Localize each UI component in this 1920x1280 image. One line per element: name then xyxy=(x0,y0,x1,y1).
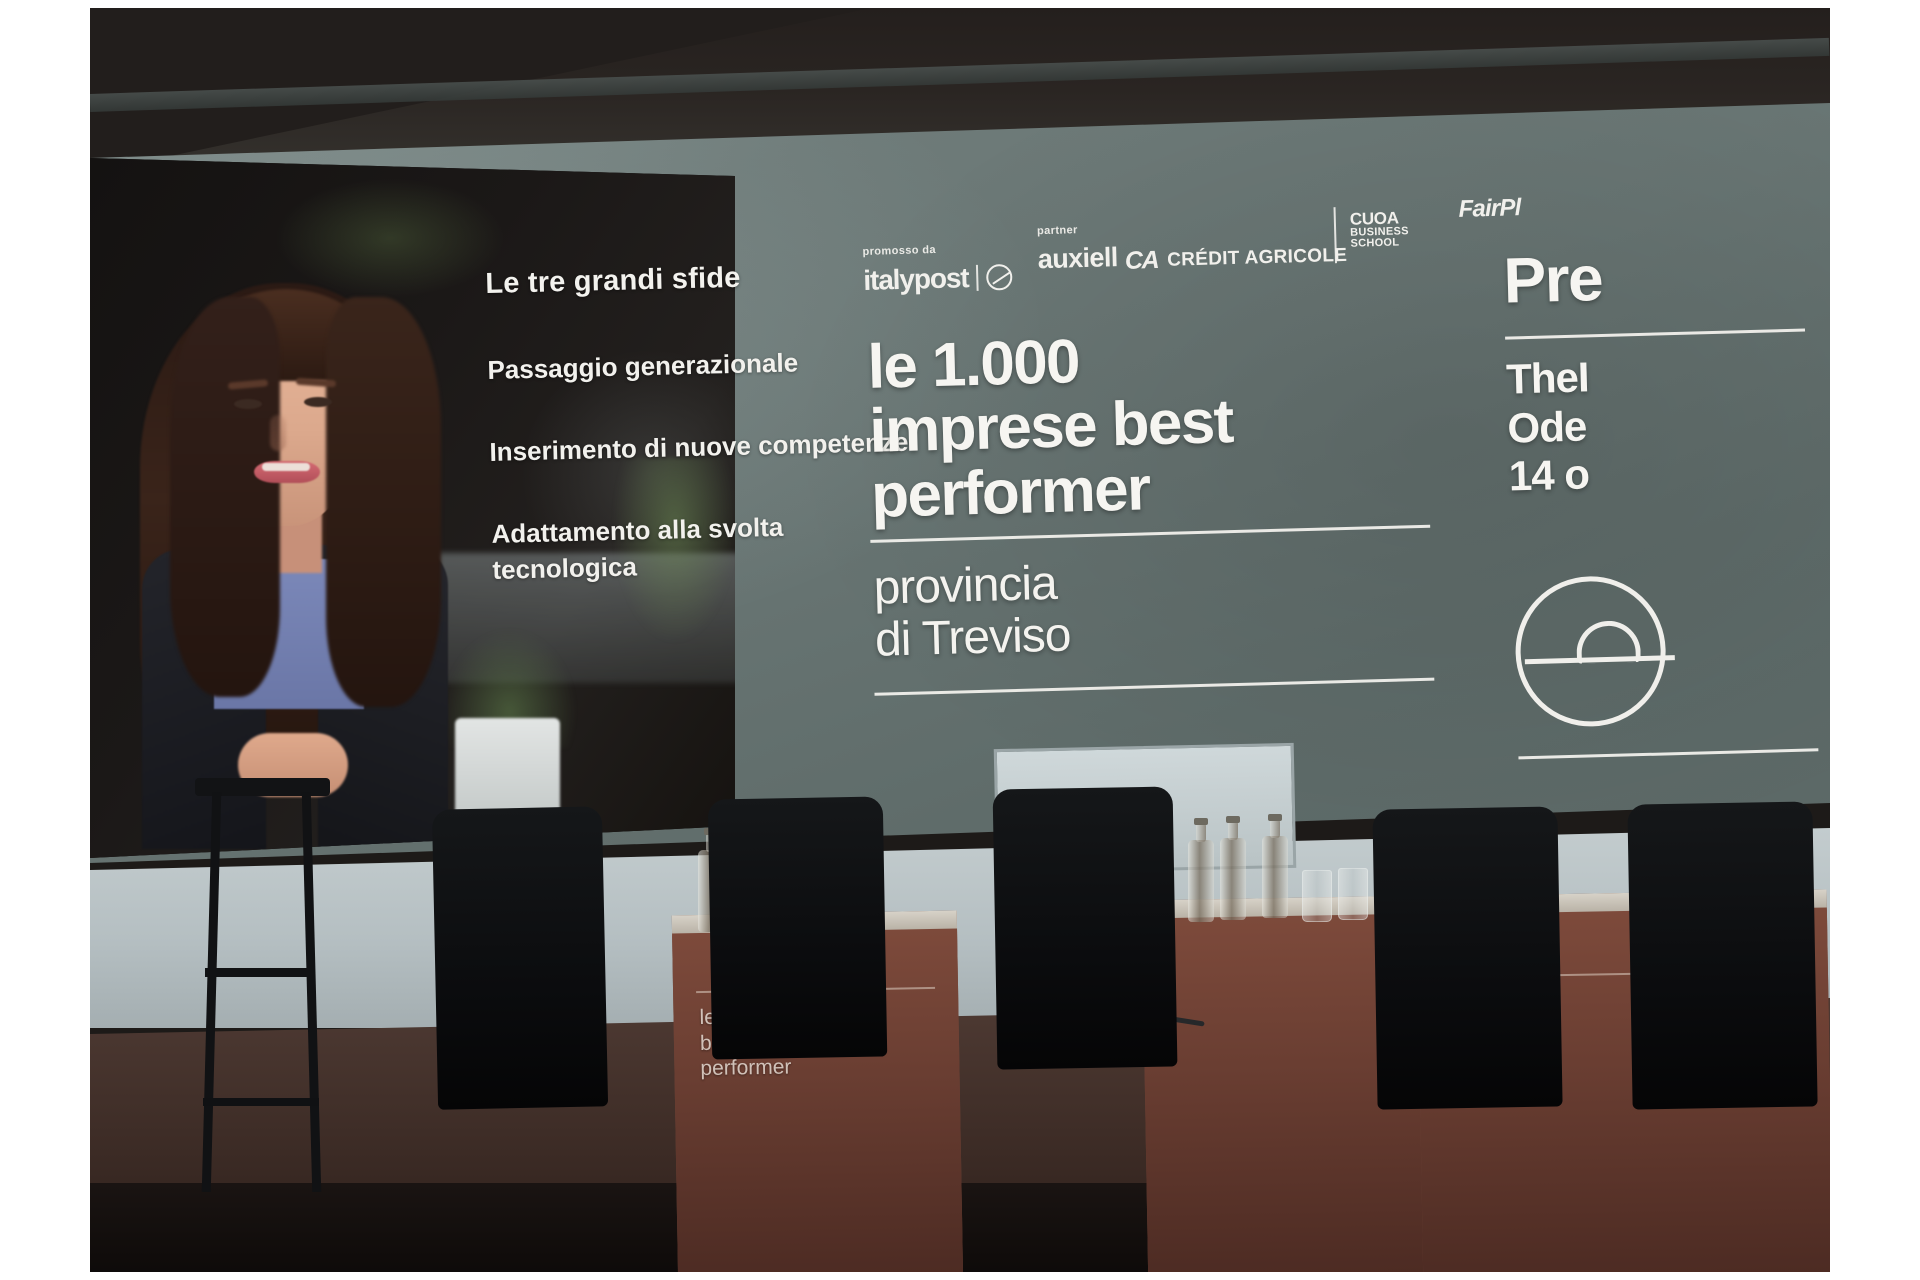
cut-line-1: TheI xyxy=(1506,347,1830,405)
stool-rail xyxy=(205,968,315,977)
italypost-wordmark: italypost xyxy=(863,262,969,297)
stool-leg xyxy=(202,792,221,1192)
credit-agricole-wordmark: CRÉDIT AGRICOLE xyxy=(1167,244,1348,271)
slide-bullet-2: Inserimento di nuove competenze xyxy=(489,425,910,471)
presenter-nose xyxy=(270,415,286,451)
screenshot-root: Le tre grandi sfide Passaggio generazion… xyxy=(0,0,1920,1280)
stage-chair xyxy=(708,796,888,1059)
promosso-da-kicker: promosso da xyxy=(862,242,1012,258)
fairplay-logo: FairPl xyxy=(1458,194,1521,224)
logobar-divider xyxy=(1334,207,1338,263)
water-bottle xyxy=(1262,836,1288,918)
crest-bird-icon xyxy=(1576,620,1641,664)
cuoa-line3: SCHOOL xyxy=(1350,237,1409,250)
italypost-logo: italypost xyxy=(863,261,1013,297)
conference-photo: Le tre grandi sfide Passaggio generazion… xyxy=(90,8,1830,1272)
credit-agricole-logo: CA CRÉDIT AGRICOLE xyxy=(1125,241,1348,276)
drinking-glass xyxy=(1338,868,1368,920)
slide-rule-bottom xyxy=(874,678,1434,696)
presenter-hair-left xyxy=(170,297,280,697)
cut-heading: Pre xyxy=(1503,240,1830,313)
divider-line xyxy=(1334,207,1338,263)
crest-emblem-icon xyxy=(1514,574,1668,728)
bar-stool xyxy=(195,778,330,1198)
italypost-separator xyxy=(976,265,979,291)
slide-bullet-1: Passaggio generazionale xyxy=(487,343,908,389)
stage-chair xyxy=(1627,801,1817,1109)
italypost-circle-icon xyxy=(986,264,1013,291)
partner-kicker: partner xyxy=(1037,223,1117,237)
cut-lines-block: TheI Ode 14 o xyxy=(1506,347,1830,502)
logo-italypost-group: promosso da italypost xyxy=(862,242,1013,297)
stage-chair xyxy=(432,806,608,1109)
stage-chair xyxy=(1372,806,1562,1109)
cut-line-3: 14 o xyxy=(1508,444,1830,502)
slide-subtitle: provincia di Treviso xyxy=(873,549,1396,667)
slide-logo-bar: promosso da italypost partner auxiell CA… xyxy=(862,201,1564,312)
cut-rule-top xyxy=(1505,329,1805,340)
cut-line-2: Ode xyxy=(1507,395,1830,453)
stage-chair xyxy=(993,786,1178,1069)
water-bottle xyxy=(1220,838,1246,920)
presenter-hair-right xyxy=(326,297,441,707)
presenter-figure xyxy=(118,263,448,858)
slide-bullet-block: Le tre grandi sfide Passaggio generazion… xyxy=(485,258,914,635)
stool-leg xyxy=(302,792,321,1192)
presenter-eye-right xyxy=(304,397,332,407)
cuoa-logo: CUOA BUSINESS SCHOOL xyxy=(1350,209,1410,250)
slide-main-title: le 1.000 imprese best performer xyxy=(867,321,1432,529)
presenter-teeth xyxy=(262,463,310,471)
cut-rule-bottom xyxy=(1518,748,1818,759)
auxiell-logo: auxiell xyxy=(1037,242,1118,275)
slide-bullet-3: Adattamento alla svolta tecnologica xyxy=(491,506,913,588)
stool-rail xyxy=(203,1098,319,1106)
presenter-eye-left xyxy=(234,399,262,409)
water-bottle xyxy=(1188,840,1214,922)
credit-agricole-mark-icon: CA xyxy=(1125,246,1159,276)
drinking-glass xyxy=(1302,870,1332,922)
slide-cut-column: Pre TheI Ode 14 o xyxy=(1503,240,1830,502)
slide-title-line-3: performer xyxy=(870,450,1432,530)
logo-partner-group: partner auxiell xyxy=(1037,223,1118,275)
